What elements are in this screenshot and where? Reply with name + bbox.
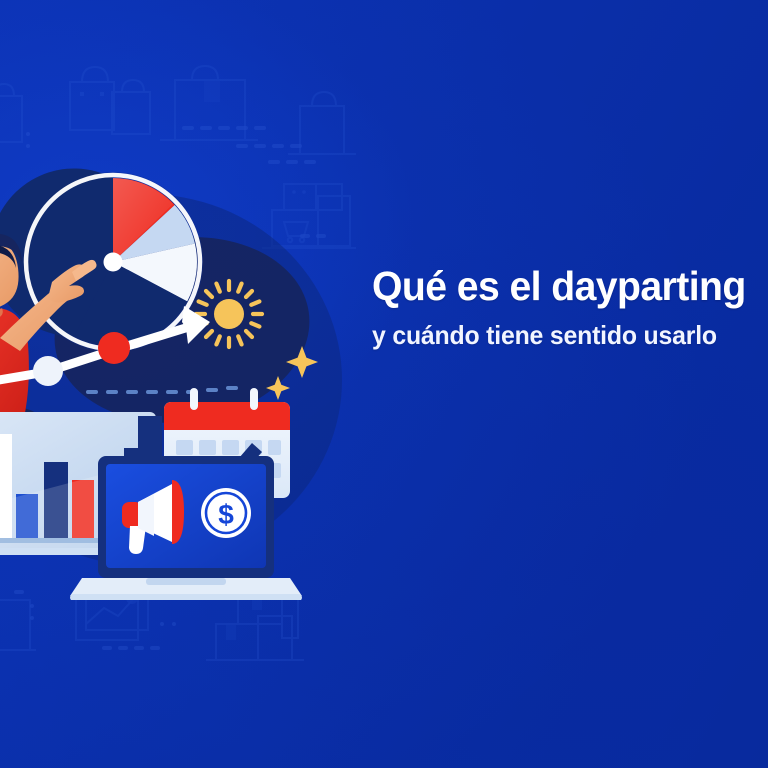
calendar-ring-1 (190, 388, 198, 410)
pie-hub (104, 253, 123, 272)
dayparting-illustration: $ (0, 130, 366, 600)
calendar-ring-2 (250, 388, 258, 410)
chart-window-icon-left (0, 600, 36, 650)
promo-banner: $ Qué es el dayparting y cuándo tiene se… (0, 0, 768, 768)
stacked-boxes-icon (206, 592, 304, 660)
headline-block: Qué es el dayparting y cuándo tiene sent… (372, 262, 752, 351)
growth-node-red (98, 332, 130, 364)
page-subtitle: y cuándo tiene sentido usarlo (372, 319, 735, 351)
svg-text:$: $ (218, 499, 234, 530)
page-title: Qué es el dayparting (372, 262, 735, 310)
shopping-bags-icon (70, 67, 150, 134)
sun-icon (196, 281, 262, 347)
dollar-coin-icon: $ (201, 488, 251, 538)
laptop-with-ad-campaign: $ (70, 456, 302, 600)
growth-node-white (33, 356, 63, 386)
